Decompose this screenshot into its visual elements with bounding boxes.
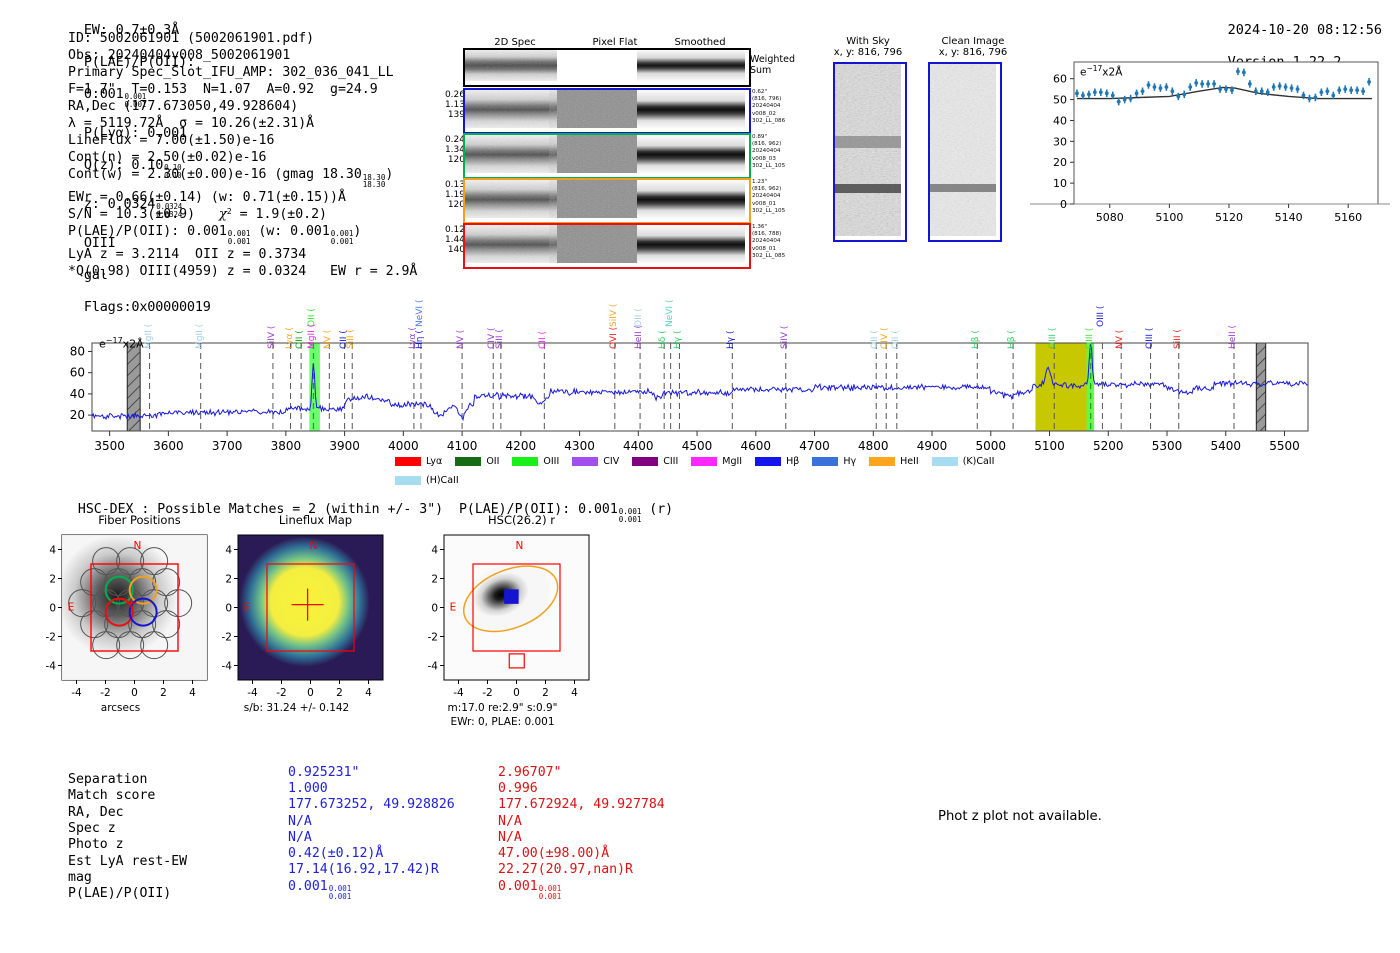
emission-line-name: SiII [1173, 335, 1183, 349]
match-table-value-col1: 0.0010.0010.001 [288, 879, 351, 901]
emission-line-label: Hγ ( [726, 331, 736, 349]
spectrum-units-label: e−17x2Å [99, 336, 144, 351]
emission-line-name: OII [891, 337, 901, 349]
legend-item: Hγ [812, 456, 856, 467]
cutout-title-cleanimage: Clean Image [918, 36, 1028, 47]
emission-line-bracket: ( [665, 300, 675, 306]
zoomplot-ytick: 50 [1053, 94, 1067, 107]
fiber-row-right-labels: 1.23"(816, 962)20240404v008_01302_LL_105 [752, 179, 785, 215]
spectrum-xtick: 3600 [153, 439, 184, 453]
panel-title: Lineflux Map [228, 513, 403, 527]
match-table-value-col2: 22.27(20.97,nan)R [498, 862, 633, 878]
panel-plot-0: -4-4-2-2002244NE [34, 531, 215, 710]
emission-line-label: CII ( [538, 331, 548, 349]
zoomplot-xtick: 5100 [1155, 211, 1183, 224]
panel-ytick: -2 [46, 632, 56, 644]
legend-item: HeII [869, 456, 919, 467]
emission-line-bracket: ( [609, 327, 619, 333]
legend-swatch [455, 457, 481, 466]
emission-line-bracket: ( [780, 326, 790, 332]
panel-ytick: -2 [222, 632, 232, 644]
match-table-value-col2: 2.96707" [498, 765, 562, 781]
emission-line-label: OIII ( [1085, 328, 1095, 349]
cutout-title-withsky: With Sky [818, 36, 918, 47]
emission-line-bracket: ( [307, 324, 317, 330]
panel-plot-1: -4-4-2-2002244NE [210, 531, 391, 710]
panel-caption: s/b: 31.24 +/- 0.142 [194, 702, 399, 714]
emission-line-name: OIII [1048, 334, 1058, 349]
legend-swatch [755, 457, 781, 466]
emission-line-name: NV [323, 336, 333, 349]
cutout-coords-withsky: x, y: 816, 796 [818, 47, 918, 58]
emission-line-bracket: ( [971, 330, 981, 336]
match-table-value-col1: 0.42(±0.12)Å [288, 846, 383, 862]
emission-line-label: OII ( [634, 308, 644, 327]
legend-label: Lyα [426, 456, 442, 467]
fiber-left-label: 120 [425, 155, 465, 165]
emission-line-bracket: ( [285, 327, 295, 333]
emission-line-label: NV ( [323, 330, 333, 349]
emission-line-label: SiIV ( [267, 326, 277, 349]
match-table-value-col1: 0.925231" [288, 765, 359, 781]
emission-line-bracket: ( [144, 324, 154, 330]
fiber-row-right-labels: 0.89"(816, 962)20240404v008_03302_LL_105 [752, 134, 785, 170]
fiber-right-label: (816, 962) [752, 141, 785, 148]
fiber-right-label: 0.62" [752, 89, 785, 96]
panel-xtick: 0 [131, 687, 138, 699]
fiber-right-label: v008_03 [752, 156, 785, 163]
panel-ytick: 4 [49, 545, 56, 557]
zoomplot-ytick: 20 [1053, 156, 1067, 169]
emission-line-label: MgII ( [144, 324, 154, 349]
emission-line-bracket: ( [609, 304, 619, 310]
match-table-label: Photo z [68, 837, 124, 853]
zoomplot-xtick: 5080 [1096, 211, 1124, 224]
fiber-left-label: 120 [425, 200, 465, 210]
fiber-right-label: 302_LL_085 [752, 253, 785, 260]
panel-xtick: -4 [71, 687, 82, 699]
fiber-left-label: 1.13 [425, 100, 465, 110]
panel-xtick: 2 [160, 687, 167, 699]
emission-line-bracket: ( [295, 330, 305, 336]
emission-line-name: Hβ [1007, 336, 1017, 349]
compass-north-label: N [309, 540, 317, 552]
emission-line-bracket: ( [1145, 328, 1155, 334]
emission-line-bracket: ( [658, 330, 668, 336]
line-zoom-plot: 010203040506050805100512051405160e−17x2Å [1030, 48, 1390, 238]
fiber-right-label: v008_01 [752, 201, 785, 208]
spectrum-xtick: 3700 [212, 439, 243, 453]
fiber-right-label: 0.89" [752, 134, 785, 141]
emission-line-bracket: ( [195, 324, 205, 330]
emission-line-bracket: ( [346, 329, 356, 335]
emission-line-label: Hβ ( [971, 330, 981, 349]
panel-ytick: -4 [222, 661, 233, 673]
panel-xtick: 2 [542, 687, 549, 699]
spectrum-xtick: 3500 [94, 439, 125, 453]
match-table-label: Est LyA rest-EW [68, 854, 187, 870]
spectrum-xtick: 3800 [271, 439, 302, 453]
spectrum-ytick: 80 [70, 344, 85, 358]
panel-ytick: 4 [431, 545, 438, 557]
emission-line-name: MgII [195, 330, 205, 349]
fiber-right-label: 302_LL_105 [752, 163, 785, 170]
emission-line-name: OVI [609, 333, 619, 349]
compass-east-label: E [244, 601, 251, 613]
legend-label: (H)CaII [426, 475, 459, 486]
legend-label: (K)CaII [963, 456, 995, 467]
emission-line-bracket: ( [456, 330, 466, 336]
fiber-right-label: 302_LL_105 [752, 208, 785, 215]
legend-label: OIII [543, 456, 559, 467]
image-panels-section: Fiber Positions-4-4-2-2002244NEarcsecsLi… [0, 505, 700, 755]
legend-swatch [632, 457, 658, 466]
panel-ytick: -4 [46, 661, 57, 673]
emission-line-label: NeVI ( [415, 300, 425, 327]
legend-item: (K)CaII [932, 456, 995, 467]
emission-line-name: Lyα [285, 334, 295, 349]
match-table-value-col1: 177.673252, 49.928826 [288, 797, 455, 813]
panel-caption: m:17.0 re:2.9" s:0.9" [400, 702, 605, 714]
emission-line-bracket: ( [267, 326, 277, 332]
emission-line-label: Lyα ( [285, 327, 295, 349]
match-col1-plae-lo: 0.001 [329, 893, 352, 901]
panel-ytick: 2 [225, 574, 232, 586]
emission-line-label: OII ( [891, 330, 901, 349]
legend-label: MgII [722, 456, 742, 467]
emission-line-bracket: ( [726, 331, 736, 337]
legend-item: (H)CaII [395, 475, 459, 486]
emission-line-bracket: ( [495, 329, 505, 335]
panel-ytick: 0 [225, 603, 232, 615]
panel-xtick: 2 [336, 687, 343, 699]
emission-line-name: NV [1115, 336, 1125, 349]
emission-line-bracket: ( [1048, 328, 1058, 334]
emission-line-legend: LyαOIIOIIICIVCIIIMgIIHβHγHeII(K)CaII(H)C… [395, 451, 1015, 489]
emission-line-label: OVI ( [609, 327, 619, 349]
zoomplot-ytick: 60 [1053, 73, 1067, 86]
compass-north-label: N [133, 540, 141, 552]
spectrum-xtick: 5100 [1034, 439, 1065, 453]
emission-line-name: NeVI [665, 306, 675, 327]
weighted-sum-label-line1: Weighted [750, 54, 795, 65]
legend-swatch [512, 457, 538, 466]
fiber-right-label: 302_LL_086 [752, 118, 785, 125]
fiber-row-image [463, 88, 751, 134]
emission-line-bracket: ( [323, 330, 333, 336]
emission-line-name: CII [538, 337, 548, 349]
spectrum-xtick: 5400 [1210, 439, 1241, 453]
panel-xtick: 4 [571, 687, 578, 699]
panel-xtick: -2 [276, 687, 286, 699]
panel-xtick: 0 [307, 687, 314, 699]
emission-line-label: OII ( [295, 330, 305, 349]
fiber-left-label: 1.34 [425, 145, 465, 155]
emission-line-bracket: ( [415, 300, 425, 306]
match-table-value-col2: 47.00(±98.00)Å [498, 846, 609, 862]
match-table-value-col1: 17.14(16.92,17.42)R [288, 862, 439, 878]
emission-line-label: Hβ ( [1007, 330, 1017, 349]
emission-line-name: OII [634, 315, 644, 327]
full-spectrum-section: 2040608035003600370038003900400041004200… [0, 265, 1400, 480]
match-table-value-col1: 1.000 [288, 781, 328, 797]
panel-xtick: 4 [365, 687, 372, 699]
emission-line-bracket: ( [1173, 329, 1183, 335]
fiber-row-image [463, 223, 751, 269]
weighted-sum-image [465, 50, 745, 81]
legend-item: MgII [691, 456, 742, 467]
compass-east-label: E [450, 601, 457, 613]
zoomplot-ytick: 30 [1053, 135, 1067, 148]
legend-label: Hβ [786, 456, 799, 467]
withsky-pixels [835, 64, 901, 236]
match-table-label: RA, Dec [68, 805, 124, 821]
emission-line-bracket: ( [538, 331, 548, 337]
fiber-right-label: 1.23" [752, 179, 785, 186]
legend-item: OII [455, 456, 499, 467]
emission-line-name: SiIV [609, 310, 619, 327]
panel-title-pixelflat: Pixel Flat [570, 37, 660, 48]
fiber-row-left-labels: 0.131.19120 [425, 180, 465, 210]
emission-line-label: Hδ ( [658, 330, 668, 349]
fiber-right-label: 20240404 [752, 148, 785, 155]
panel-ytick: 2 [431, 574, 438, 586]
cutout-coords-cleanimage: x, y: 816, 796 [918, 47, 1028, 58]
cleanimage-pixels [930, 64, 996, 236]
panel-ytick: 0 [49, 603, 56, 615]
fiber-right-label: 1.36" [752, 224, 785, 231]
panel-xtick: 0 [513, 687, 520, 699]
match-table-label: Separation [68, 772, 147, 788]
match-col2-plae-lo: 0.001 [539, 893, 562, 901]
panel-title-smoothed: Smoothed [655, 37, 745, 48]
emission-line-label: Hη ( [415, 330, 425, 349]
legend-label: HeII [900, 456, 919, 467]
emission-line-bracket: ( [880, 328, 890, 334]
emission-line-bracket: ( [1115, 330, 1125, 336]
panel-title: Fiber Positions [52, 513, 227, 527]
emission-line-label: Hγ ( [673, 331, 683, 349]
emission-line-name: OII [295, 337, 305, 349]
spectrum-xtick: 5500 [1269, 439, 1300, 453]
emission-line-label: SiIV ( [780, 326, 790, 349]
emission-line-name: Hβ [971, 336, 981, 349]
fiber-left-label: 0.26 [425, 90, 465, 100]
emission-line-label: NV ( [1115, 330, 1125, 349]
emission-line-bracket: ( [634, 308, 644, 314]
emission-line-bracket: ( [307, 308, 317, 314]
fiber-right-label: 20240404 [752, 103, 785, 110]
fiber-row-left-labels: 0.241.34120 [425, 135, 465, 165]
emission-line-bracket: ( [870, 330, 880, 336]
match-table-value-col2: N/A [498, 830, 522, 846]
spectrum-ytick: 60 [70, 366, 85, 380]
compass-north-label: N [515, 540, 523, 552]
emission-line-label: OIII ( [1145, 328, 1155, 349]
compass-east-label: E [68, 601, 75, 613]
emission-line-name: SiIV [267, 332, 277, 349]
fiber-row-right-labels: 1.36"(816, 788)20240404v008_01302_LL_085 [752, 224, 785, 260]
emission-line-label: CIV ( [880, 328, 890, 349]
match-table-value-col1: N/A [288, 814, 312, 830]
spectrum-xtick: 5300 [1152, 439, 1183, 453]
panel-xtick: 4 [189, 687, 196, 699]
legend-item: Lyα [395, 456, 442, 467]
panel-xtick: -4 [247, 687, 258, 699]
cutout-image-withsky [833, 62, 907, 242]
emission-line-label: SiIV ( [609, 304, 619, 327]
match-table-value-col2: N/A [498, 814, 522, 830]
zoomplot-xtick: 5140 [1275, 211, 1303, 224]
match-col2-plae-value: 0.001 [498, 879, 538, 894]
fiber-right-label: (816, 788) [752, 231, 785, 238]
fiber-right-label: 20240404 [752, 238, 785, 245]
emission-line-label: MgII ( [195, 324, 205, 349]
emission-line-name: SiII [346, 335, 356, 349]
fiber-right-label: v008_01 [752, 246, 785, 253]
legend-swatch [691, 457, 717, 466]
zoomplot-ytick: 10 [1053, 177, 1067, 190]
emission-line-bracket: ( [1085, 328, 1095, 334]
fiber-left-label: 140 [425, 245, 465, 255]
emission-line-name: NV [456, 336, 466, 349]
fiber-right-label: (816, 796) [752, 96, 785, 103]
emission-line-name: SiII [495, 335, 505, 349]
emission-line-bracket: ( [1096, 306, 1106, 312]
panel-xtick: -2 [482, 687, 492, 699]
panel-ytick: -4 [428, 661, 439, 673]
emission-line-name: HeII [634, 331, 644, 349]
emission-line-label: NeVI ( [665, 300, 675, 327]
emission-line-name: SiIV [780, 332, 790, 349]
fiber-row-left-labels: 0.261.13139 [425, 90, 465, 120]
fiber-row-image [463, 133, 751, 179]
match-table-value-col2: 0.0010.0010.001 [498, 879, 561, 901]
spectrum-xtick: 5200 [1093, 439, 1124, 453]
emission-line-bracket: ( [891, 330, 901, 336]
legend-item: CIII [632, 456, 678, 467]
emission-line-name: HeII [1228, 331, 1238, 349]
fiber-left-label: 0.12 [425, 225, 465, 235]
fiber-right-label: v008_02 [752, 111, 785, 118]
panel-ytick: -2 [428, 632, 438, 644]
emission-line-name: CIV [880, 334, 890, 349]
legend-label: CIII [663, 456, 678, 467]
legend-item: CIV [572, 456, 619, 467]
legend-swatch [572, 457, 598, 466]
fiber-left-label: 0.24 [425, 135, 465, 145]
fiber-left-label: 1.19 [425, 190, 465, 200]
legend-swatch [869, 457, 895, 466]
emission-line-label: OIII ( [1048, 328, 1058, 349]
emission-line-label: SiII ( [495, 329, 505, 349]
legend-label: OII [486, 456, 499, 467]
emission-line-label: HeII ( [1228, 325, 1238, 349]
emission-line-name: OII [870, 337, 880, 349]
match-table-label: mag [68, 870, 92, 886]
fiber-left-label: 1.44 [425, 235, 465, 245]
spectrum-ytick: 20 [70, 408, 85, 422]
zoomplot-xtick: 5160 [1334, 211, 1362, 224]
photz-note: Phot z plot not available. [938, 809, 1102, 824]
legend-item: Hβ [755, 456, 799, 467]
cutout-image-cleanimage [928, 62, 1002, 242]
emission-line-name: OIII [1096, 312, 1106, 327]
legend-item: OIII [512, 456, 559, 467]
match-table-label: Spec z [68, 821, 116, 837]
zoomplot-ytick: 0 [1060, 198, 1067, 211]
emission-line-name: MgII [144, 330, 154, 349]
match-table-label: P(LAE)/P(OII) [68, 886, 171, 902]
weighted-sum-strip [463, 48, 751, 87]
zoomplot-xtick: 5120 [1215, 211, 1243, 224]
match-table-value-col2: 0.996 [498, 781, 538, 797]
panel-xtick: -4 [453, 687, 464, 699]
panel-title-2dspec: 2D Spec [470, 37, 560, 48]
panel-ytick: 4 [225, 545, 232, 557]
match-table-label: Match score [68, 788, 155, 804]
emission-line-label: SiII ( [346, 329, 356, 349]
emission-line-bracket: ( [1228, 325, 1238, 331]
full-spectrum-chart: 2040608035003600370038003900400041004200… [0, 265, 1400, 480]
emission-line-name: OIII [1085, 334, 1095, 349]
legend-swatch [812, 457, 838, 466]
fiber-left-label: 0.13 [425, 180, 465, 190]
weighted-sum-label: Weighted Sum [750, 54, 795, 76]
emission-line-name: Hη [415, 337, 425, 349]
match-col1-plae-value: 0.001 [288, 879, 328, 894]
panel-ytick: 2 [49, 574, 56, 586]
emission-line-bracket: ( [415, 330, 425, 336]
panel-xlabel: arcsecs [34, 702, 207, 714]
emission-line-name: Hδ [658, 337, 668, 349]
emission-line-name: NeVI [415, 306, 425, 327]
panel-title: HSC(26.2) r [434, 513, 609, 527]
emission-line-name: Hγ [673, 337, 683, 349]
emission-line-label: OIII ( [1096, 306, 1106, 327]
legend-label: Hγ [843, 456, 856, 467]
fiber-row-image [463, 178, 751, 224]
fiber-right-label: (816, 962) [752, 186, 785, 193]
emission-line-name: Hγ [726, 337, 736, 349]
panel-ytick: 0 [431, 603, 438, 615]
match-table-value-col2: 177.672924, 49.927784 [498, 797, 665, 813]
emission-line-label: SiII ( [1173, 329, 1183, 349]
fiber-left-label: 139 [425, 110, 465, 120]
fiber-row-right-labels: 0.62"(816, 796)20240404v008_02302_LL_086 [752, 89, 785, 125]
emission-line-bracket: ( [673, 331, 683, 337]
emission-line-label: HeII ( [634, 325, 644, 349]
panel-plot-2: -4-4-2-2002244NE [416, 531, 597, 710]
emission-line-bracket: ( [1007, 330, 1017, 336]
panel-caption-2: EWr: 0, PLAE: 0.001 [400, 716, 605, 728]
fiber-right-label: 20240404 [752, 193, 785, 200]
legend-swatch [395, 476, 421, 485]
zoomplot-units-label: e−17x2Å [1080, 64, 1122, 79]
emission-line-label: NV ( [456, 330, 466, 349]
fiber-row-left-labels: 0.121.44140 [425, 225, 465, 255]
emission-line-label: OII ( [870, 330, 880, 349]
emission-line-name: MgII [307, 330, 317, 349]
spectrum-ytick: 40 [70, 387, 85, 401]
spectrum-xtick: 3900 [329, 439, 360, 453]
legend-swatch [395, 457, 421, 466]
emission-line-label: MgII ( [307, 324, 317, 349]
legend-label: CIV [603, 456, 619, 467]
match-table-value-col1: N/A [288, 830, 312, 846]
legend-swatch [932, 457, 958, 466]
weighted-sum-label-line2: Sum [750, 65, 795, 76]
